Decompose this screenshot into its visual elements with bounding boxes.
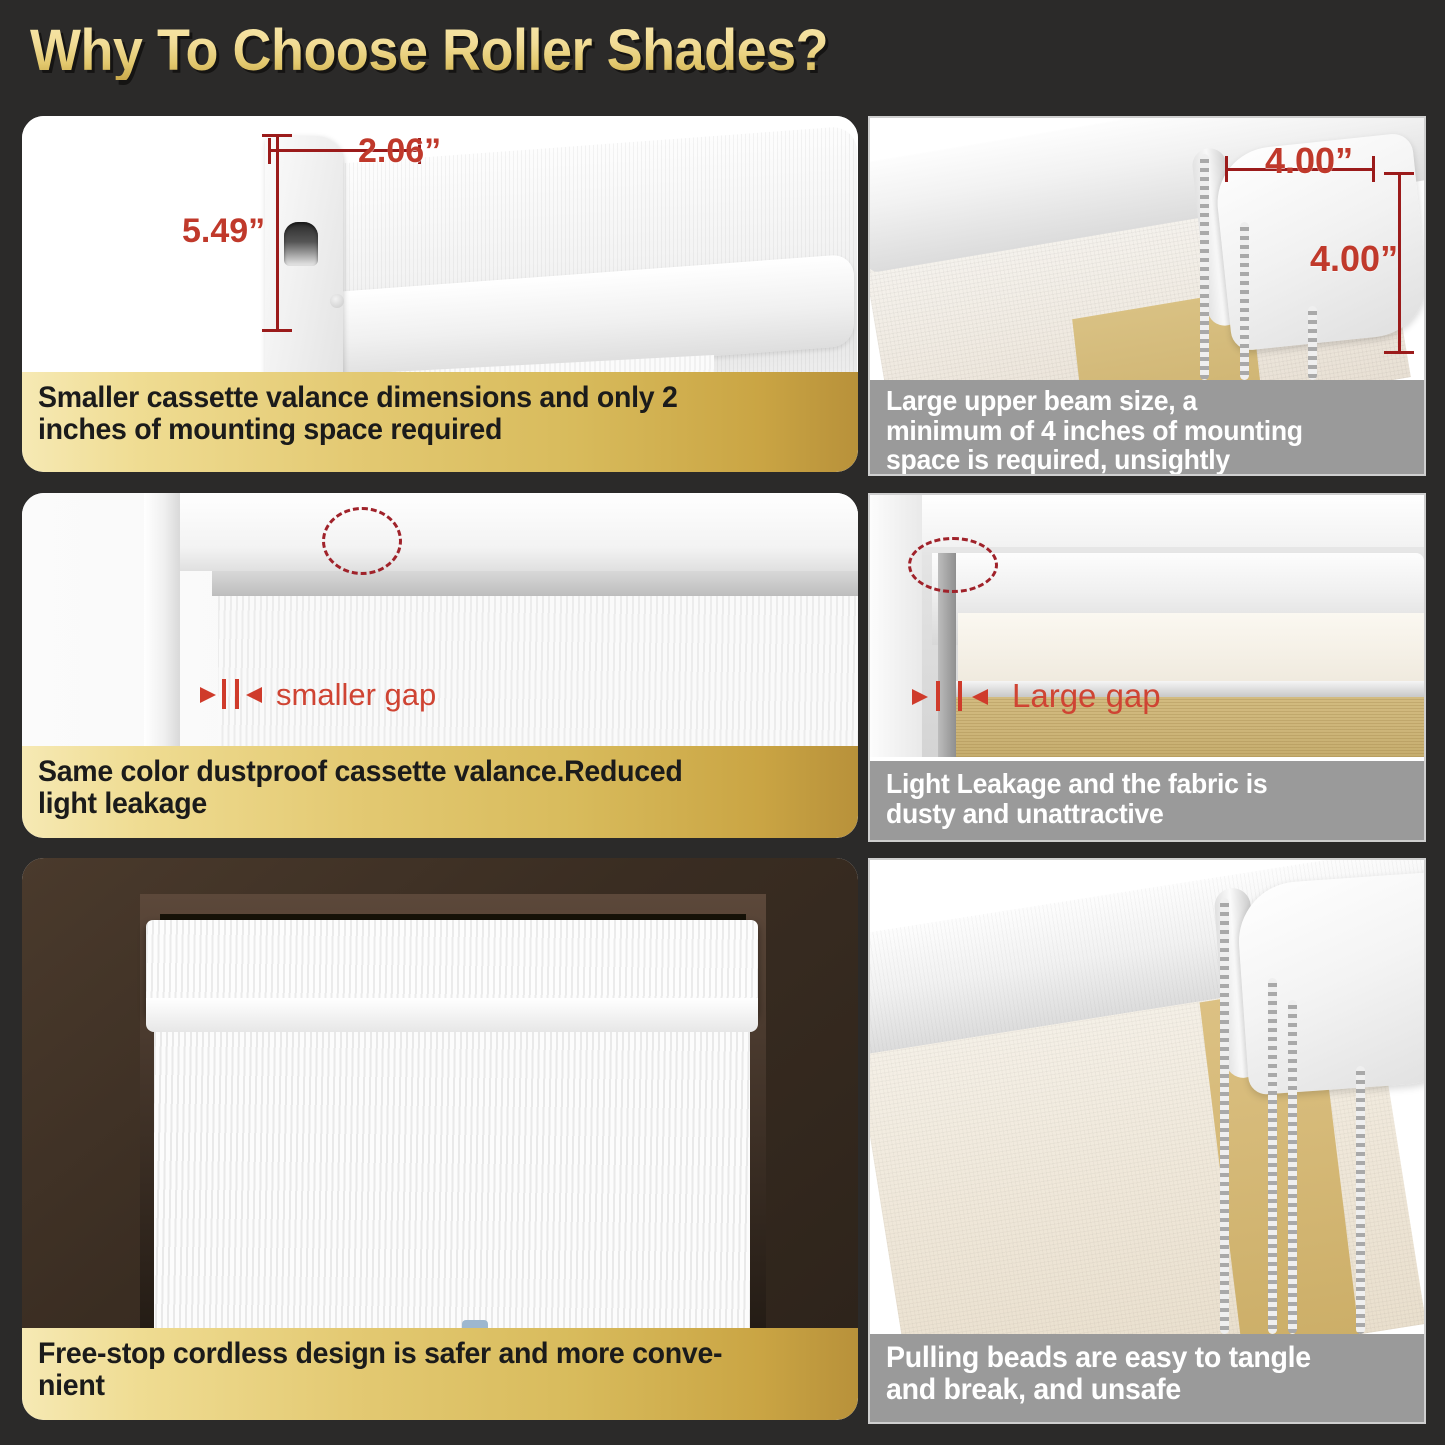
page-title: Why To Choose Roller Shades? <box>30 22 828 80</box>
caption-line: light leakage <box>38 788 802 820</box>
caption-line: Large upper beam size, a <box>886 386 1382 416</box>
gap-arrow-right-icon <box>972 689 988 705</box>
caption-line: and break, and unsafe <box>886 1374 1382 1406</box>
cassette-valance-edge <box>212 571 858 596</box>
shade-fabric-upper <box>218 596 858 751</box>
panel-smaller-cassette: 2.06” 5.49” Smaller cassette valance dim… <box>22 116 858 472</box>
width-dimension-label: 2.06” <box>358 132 441 171</box>
gap-label: Large gap <box>1012 677 1161 715</box>
mounting-bracket <box>1235 871 1424 1096</box>
panel-2-photo: 4.00” 4.00” <box>870 118 1424 380</box>
panel-dustproof-cassette: smaller gap Same color dustproof cassett… <box>22 493 858 838</box>
panel-5-caption: Free-stop cordless design is safer and m… <box>22 1328 858 1420</box>
panel-pulling-beads: Pulling beads are easy to tangle and bre… <box>868 858 1426 1424</box>
panel-2-caption: Large upper beam size, a minimum of 4 in… <box>870 380 1424 474</box>
bead-chain-right <box>1356 1066 1365 1334</box>
caption-line: Pulling beads are easy to tangle <box>886 1342 1382 1374</box>
white-backing-strip <box>958 613 1424 687</box>
panel-5-photo <box>22 858 858 1328</box>
beam-width-tick-left <box>1225 156 1228 182</box>
gap-arrow-left-icon <box>200 687 216 703</box>
pull-tab <box>462 1320 488 1328</box>
highlight-circle-icon <box>322 507 402 575</box>
beam-height-tick-top <box>1384 172 1414 175</box>
beam-height-line <box>1398 172 1401 354</box>
panel-1-photo: 2.06” 5.49” <box>22 116 858 372</box>
panel-3-photo: smaller gap <box>22 493 858 751</box>
bead-chain-right <box>1308 306 1317 380</box>
caption-line: space is required, unsightly <box>886 445 1382 475</box>
caption-line: Smaller cassette valance dimensions and … <box>38 382 802 414</box>
panel-1-caption: Smaller cassette valance dimensions and … <box>22 372 858 472</box>
bead-chain-mid <box>1268 978 1277 1334</box>
bracket-slot <box>284 222 318 266</box>
beam-width-tick-right <box>1372 156 1375 182</box>
cassette-valance-lip <box>146 998 758 1032</box>
gap-marker-right <box>958 681 962 711</box>
beam-height-label: 4.00” <box>1310 238 1398 280</box>
height-dimension-label: 5.49” <box>182 212 265 251</box>
bead-chain-left <box>1200 154 1209 380</box>
height-dimension-line <box>276 134 279 332</box>
bracket-screw-small <box>330 294 344 308</box>
roller-shade-fabric <box>154 1032 750 1328</box>
bead-chain-mid <box>1240 222 1249 380</box>
panel-6-caption: Pulling beads are easy to tangle and bre… <box>870 1334 1424 1422</box>
caption-line: Light Leakage and the fabric is <box>886 769 1382 799</box>
bead-chain-mid2 <box>1288 1000 1297 1334</box>
panel-large-upper-beam: 4.00” 4.00” Large upper beam size, a min… <box>868 116 1426 476</box>
caption-line: nient <box>38 1370 802 1402</box>
bead-chain-left <box>1220 898 1229 1334</box>
panel-4-photo: Large gap <box>870 495 1424 757</box>
highlight-circle-icon <box>908 537 998 593</box>
beam-height-tick-bottom <box>1384 351 1414 354</box>
height-tick-top <box>262 134 292 137</box>
beam-width-label: 4.00” <box>1265 140 1353 182</box>
panel-4-caption: Light Leakage and the fabric is dusty an… <box>870 761 1424 840</box>
gap-arrow-right-icon <box>246 687 262 703</box>
gap-label: smaller gap <box>276 677 436 713</box>
width-tick-left <box>268 138 271 164</box>
gap-marker-left <box>222 679 226 709</box>
wall-left <box>870 495 922 757</box>
panel-3-caption: Same color dustproof cassette valance.Re… <box>22 746 858 838</box>
caption-line: dusty and unattractive <box>886 799 1382 829</box>
window-frame-left <box>144 493 180 751</box>
caption-line: minimum of 4 inches of mounting <box>886 416 1382 446</box>
gap-arrow-left-icon <box>912 689 928 705</box>
caption-line: inches of mounting space required <box>38 414 802 446</box>
gap-marker-left <box>936 681 940 711</box>
gap-marker-right <box>235 679 239 709</box>
caption-line: Same color dustproof cassette valance.Re… <box>38 756 802 788</box>
panel-light-leakage: Large gap Light Leakage and the fabric i… <box>868 493 1426 842</box>
panel-cordless-design: Free-stop cordless design is safer and m… <box>22 858 858 1420</box>
window-frame-top <box>144 493 858 571</box>
caption-line: Free-stop cordless design is safer and m… <box>38 1338 802 1370</box>
panel-6-photo <box>870 860 1424 1334</box>
height-tick-bottom <box>262 329 292 332</box>
